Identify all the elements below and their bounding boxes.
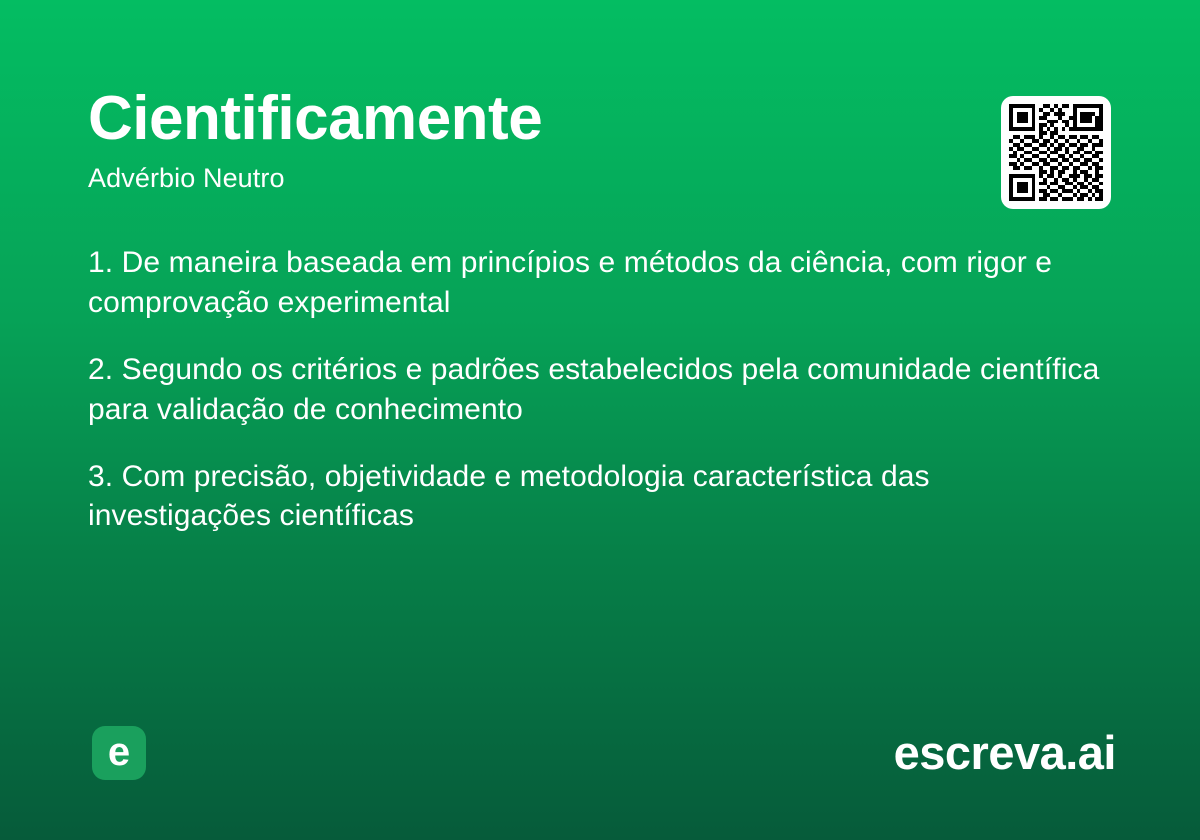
card-header: Cientificamente Advérbio Neutro (88, 88, 968, 194)
definition-list: 1. De maneira baseada em princípios e mé… (88, 243, 1108, 536)
definition-item: 2. Segundo os critérios e padrões estabe… (88, 350, 1108, 430)
qr-code-icon (1009, 104, 1103, 201)
definition-item: 3. Com precisão, objetividade e metodolo… (88, 457, 1108, 537)
definition-item: 1. De maneira baseada em princípios e mé… (88, 243, 1108, 323)
card-footer: e escreva.ai (0, 718, 1200, 802)
word-class-label: Advérbio Neutro (88, 164, 968, 194)
qr-code-card[interactable] (1001, 96, 1111, 209)
definition-card: Cientificamente Advérbio Neutro 1. De ma… (0, 0, 1200, 840)
brand-logo-letter: e (108, 732, 130, 772)
brand-wordmark: escreva.ai (894, 718, 1116, 788)
brand-logo: e (92, 726, 146, 780)
page-title: Cientificamente (88, 88, 968, 150)
qr-module (1099, 197, 1103, 201)
